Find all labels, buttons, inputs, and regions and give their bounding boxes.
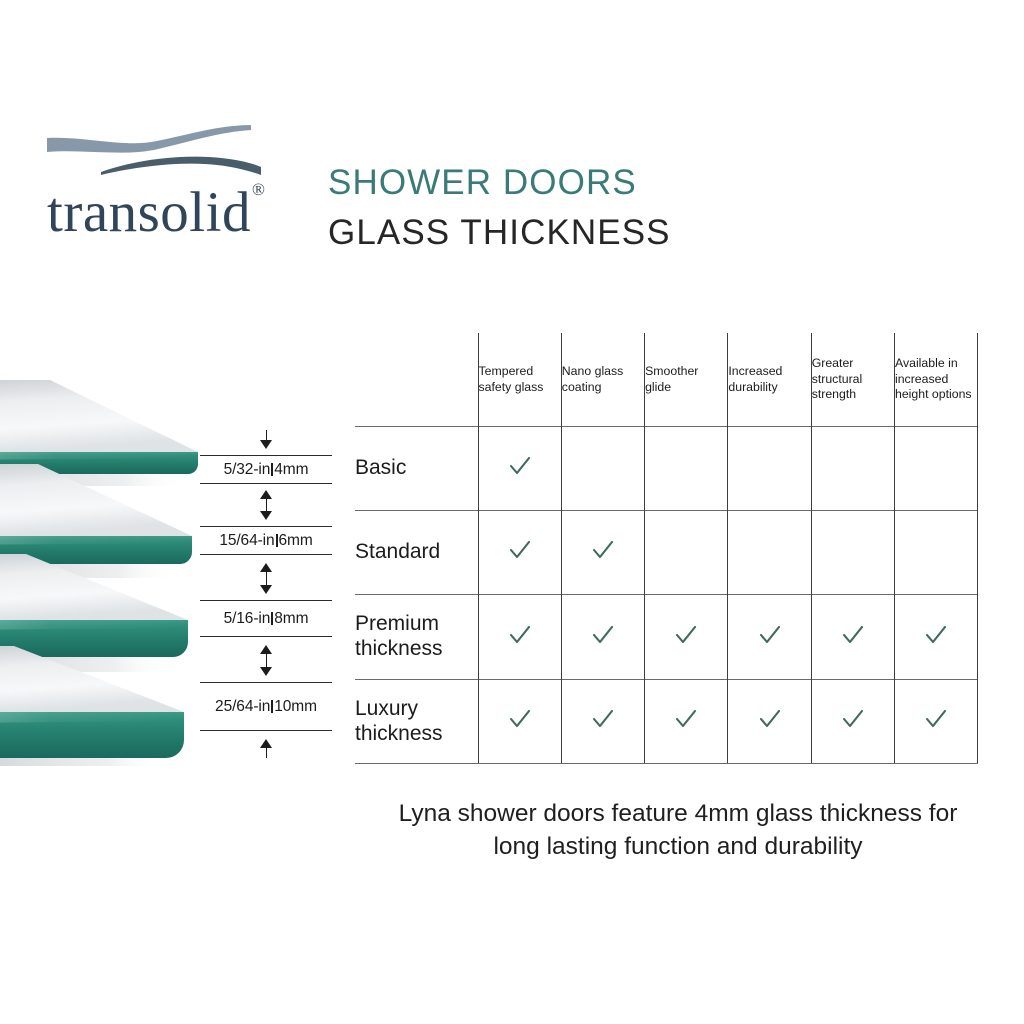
check-icon	[590, 537, 616, 563]
dim-rule-3-top	[200, 600, 332, 601]
brand-logo: transolid®	[45, 122, 310, 262]
brand-wordmark-text: transolid	[47, 181, 251, 244]
column-header-smoother-glide: Smoother glide	[645, 333, 728, 427]
table-row-premium-thickness: Premium thickness	[355, 595, 978, 680]
cell-premium-smoother-glide	[645, 595, 728, 680]
dim-separator-icon	[271, 463, 273, 476]
cell-premium-greater-structural-strength	[811, 595, 894, 680]
check-icon	[840, 622, 866, 648]
dim-stem-gap-1	[266, 499, 268, 511]
cell-standard-increased-durability	[728, 511, 811, 595]
cell-basic-nano-glass-coating	[561, 427, 644, 511]
dim-label-4-inches: 25/64-in	[215, 698, 270, 715]
cell-luxury-tempered-safety-glass	[478, 680, 561, 764]
row-label-premium-thickness: Premium thickness	[355, 595, 478, 680]
cell-standard-greater-structural-strength	[811, 511, 894, 595]
dim-stem-gap-3	[266, 654, 268, 667]
cell-basic-increased-durability	[728, 427, 811, 511]
table-row-standard: Standard	[355, 511, 978, 595]
check-icon	[673, 706, 699, 732]
cell-premium-increased-durability	[728, 595, 811, 680]
dim-separator-icon	[271, 700, 273, 713]
dim-separator-icon	[271, 612, 273, 625]
footer-caption-line1: Lyna shower doors feature 4mm glass thic…	[374, 798, 982, 831]
dimension-ladder: 5/32-in4mm 15/64-in6mm 5/16-in8mm 25/64-…	[200, 430, 332, 760]
dim-arrow-up-1	[260, 490, 272, 499]
cell-standard-smoother-glide	[645, 511, 728, 595]
dim-label-1: 5/32-in4mm	[200, 461, 332, 479]
check-icon	[507, 537, 533, 563]
check-icon	[507, 622, 533, 648]
check-icon	[757, 706, 783, 732]
dim-label-1-mm: 4mm	[274, 461, 308, 478]
cell-luxury-smoother-glide	[645, 680, 728, 764]
cell-basic-available-increased-height-options	[894, 427, 977, 511]
dim-rule-1-top	[200, 455, 332, 456]
column-header-tempered-safety-glass: Tempered safety glass	[478, 333, 561, 427]
column-header-nano-glass-coating: Nano glass coating	[561, 333, 644, 427]
cell-basic-smoother-glide	[645, 427, 728, 511]
dim-label-3-mm: 8mm	[274, 610, 308, 627]
column-header-available-increased-height-options: Available in increased height options	[894, 333, 977, 427]
dim-label-4: 25/64-in10mm	[200, 698, 332, 716]
dim-stem-bottom-4	[266, 748, 268, 758]
dim-rule-4-top	[200, 682, 332, 683]
check-icon	[673, 622, 699, 648]
cell-premium-available-increased-height-options	[894, 595, 977, 680]
check-icon	[507, 706, 533, 732]
title-shower-doors: SHOWER DOORS	[328, 163, 637, 203]
column-header-greater-structural-strength: Greater structural strength	[811, 333, 894, 427]
dim-rule-3-bottom	[200, 636, 332, 637]
cell-luxury-available-increased-height-options	[894, 680, 977, 764]
dim-arrow-down-3	[260, 585, 272, 594]
dim-stem-gap-2	[266, 572, 268, 585]
cell-luxury-nano-glass-coating	[561, 680, 644, 764]
dim-arrow-down-2	[260, 511, 272, 520]
dim-stem-top-1	[266, 430, 268, 440]
row-label-standard: Standard	[355, 511, 478, 595]
dim-label-3: 5/16-in8mm	[200, 610, 332, 628]
cell-premium-nano-glass-coating	[561, 595, 644, 680]
row-label-luxury-thickness: Luxury thickness	[355, 680, 478, 764]
table-header-corner	[355, 333, 478, 427]
cell-basic-greater-structural-strength	[811, 427, 894, 511]
table-header-row: Tempered safety glass Nano glass coating…	[355, 333, 978, 427]
cell-standard-available-increased-height-options	[894, 511, 977, 595]
cell-luxury-greater-structural-strength	[811, 680, 894, 764]
footer-caption: Lyna shower doors feature 4mm glass thic…	[374, 798, 982, 863]
dim-arrow-down-1	[260, 440, 272, 449]
footer-caption-line2: long lasting function and durability	[374, 831, 982, 864]
registered-trademark-icon: ®	[252, 180, 265, 199]
dim-arrow-down-4	[260, 667, 272, 676]
table-row-luxury-thickness: Luxury thickness	[355, 680, 978, 764]
cell-luxury-increased-durability	[728, 680, 811, 764]
dim-rule-2-bottom	[200, 554, 332, 555]
dim-arrow-up-2	[260, 563, 272, 572]
cell-standard-nano-glass-coating	[561, 511, 644, 595]
dim-label-3-inches: 5/16-in	[224, 610, 271, 627]
dim-label-2-mm: 6mm	[279, 532, 313, 549]
dim-label-1-inches: 5/32-in	[224, 461, 271, 478]
dim-label-2: 15/64-in6mm	[200, 532, 332, 550]
title-glass-thickness: GLASS THICKNESS	[328, 213, 671, 253]
dim-arrow-up-3	[260, 645, 272, 654]
dim-arrow-up-4	[260, 739, 272, 748]
column-header-increased-durability: Increased durability	[728, 333, 811, 427]
check-icon	[840, 706, 866, 732]
check-icon	[757, 622, 783, 648]
feature-comparison-table: Tempered safety glass Nano glass coating…	[355, 333, 978, 764]
brand-wordmark: transolid®	[47, 184, 264, 241]
check-icon	[590, 706, 616, 732]
check-icon	[507, 453, 533, 479]
cell-basic-tempered-safety-glass	[478, 427, 561, 511]
dim-rule-1-bottom	[200, 483, 332, 484]
row-label-basic: Basic	[355, 427, 478, 511]
glass-thickness-illustration	[0, 368, 205, 768]
table-row-basic: Basic	[355, 427, 978, 511]
cell-premium-tempered-safety-glass	[478, 595, 561, 680]
dim-label-4-mm: 10mm	[274, 698, 317, 715]
dim-rule-4-bottom	[200, 730, 332, 731]
cell-standard-tempered-safety-glass	[478, 511, 561, 595]
check-icon	[923, 706, 949, 732]
dim-separator-icon	[276, 534, 278, 547]
check-icon	[590, 622, 616, 648]
dim-rule-2-top	[200, 526, 332, 527]
check-icon	[923, 622, 949, 648]
dim-label-2-inches: 15/64-in	[219, 532, 274, 549]
